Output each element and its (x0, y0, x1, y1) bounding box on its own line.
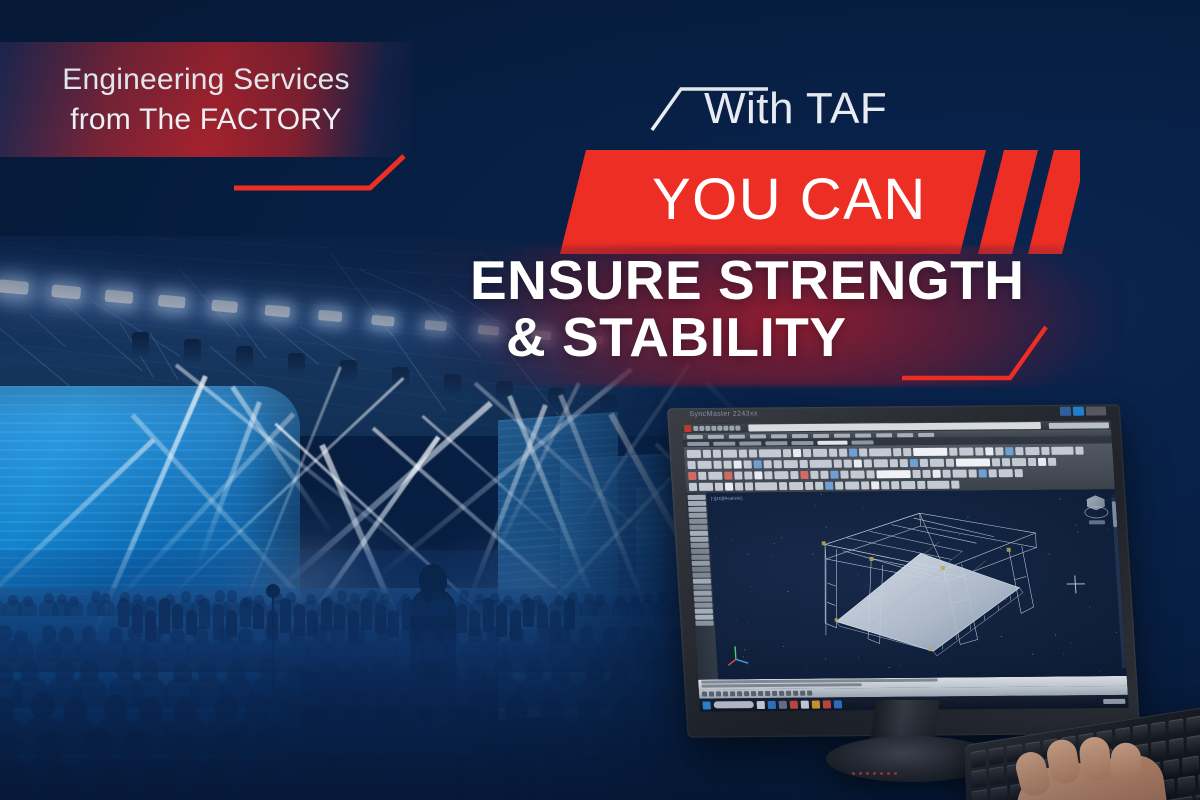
cad-ribbon-button[interactable] (985, 447, 994, 455)
audience-member (487, 626, 502, 642)
cad-ribbon-tab[interactable] (713, 441, 735, 445)
cad-status-toggle[interactable] (758, 691, 763, 696)
audience-member (57, 594, 67, 605)
canvas-speckle (1100, 671, 1101, 672)
cad-tool-button[interactable] (695, 621, 713, 626)
keyboard-key[interactable] (1133, 724, 1148, 743)
audience-member (459, 590, 469, 601)
cad-ribbon-button[interactable] (988, 469, 997, 477)
keyboard-key[interactable] (1187, 716, 1200, 735)
cad-tool-button[interactable] (688, 501, 706, 506)
cad-status-toggle[interactable] (723, 691, 728, 696)
stage-light-beam (0, 439, 155, 655)
cad-ribbon-button[interactable] (743, 460, 752, 468)
audience-member-body (684, 793, 744, 800)
audience-member-body (620, 639, 647, 662)
orchestra-performer (361, 598, 372, 630)
audience-member-body (306, 639, 333, 662)
cad-ribbon-toolbars[interactable] (683, 443, 1114, 493)
cad-ribbon-button[interactable] (793, 449, 802, 457)
audience-member-body (54, 716, 97, 754)
audience-member-body (333, 600, 352, 616)
cad-ribbon-button[interactable] (850, 470, 865, 478)
cad-tool-button[interactable] (694, 591, 712, 596)
cad-ribbon-button[interactable] (1041, 446, 1050, 454)
audience-member-body (249, 600, 268, 616)
cad-tool-button[interactable] (689, 513, 707, 518)
cad-ribbon-tab[interactable] (739, 441, 761, 445)
cad-ribbon-button[interactable] (783, 449, 792, 457)
cad-ribbon-button[interactable] (866, 470, 875, 478)
cad-tool-button[interactable] (692, 567, 710, 572)
cad-tool-button[interactable] (687, 495, 705, 500)
cad-tool-button[interactable] (694, 597, 712, 602)
taskbar-app-icon[interactable] (801, 700, 810, 708)
cad-tool-button[interactable] (694, 603, 712, 608)
cad-ribbon-tab[interactable] (791, 440, 813, 444)
cad-ribbon-button[interactable] (910, 459, 919, 467)
cad-ribbon-button[interactable] (992, 458, 1001, 466)
audience-member-body (223, 600, 242, 616)
cad-tool-button[interactable] (690, 537, 708, 542)
cad-menu-item[interactable] (918, 432, 934, 436)
cad-ribbon-button[interactable] (829, 448, 838, 456)
keyboard-key[interactable] (971, 750, 986, 769)
cad-ribbon-button[interactable] (799, 459, 808, 467)
monitor-screen[interactable]: [-][3D][Realistic] (682, 420, 1129, 711)
taskbar-app-icon[interactable] (834, 700, 843, 708)
cad-ribbon-button[interactable] (917, 480, 926, 488)
stage-truss-3d-model (732, 501, 1118, 665)
audience-member-body (269, 600, 288, 616)
audience-member (630, 595, 640, 606)
cad-ribbon-button[interactable] (951, 480, 960, 488)
audience-member (286, 592, 296, 603)
audience-member-body (580, 600, 599, 616)
cad-status-toggle[interactable] (716, 691, 721, 696)
orchestra-performer (159, 598, 170, 634)
cad-ribbon-button[interactable] (830, 470, 839, 478)
audience-member (626, 626, 641, 642)
cad-menu-item[interactable] (813, 433, 829, 437)
cad-tool-button[interactable] (688, 507, 706, 512)
cad-ribbon-button[interactable] (723, 449, 738, 457)
audience-member (415, 593, 425, 604)
cad-ribbon-button[interactable] (927, 480, 950, 488)
keyboard-key[interactable] (1163, 758, 1179, 777)
audience-member-body (529, 600, 548, 616)
cad-ribbon-button[interactable] (759, 449, 782, 457)
cad-ribbon-button[interactable] (1025, 446, 1040, 454)
cad-ribbon-button[interactable] (1051, 446, 1074, 454)
cad-ribbon-button[interactable] (699, 482, 714, 490)
cad-status-toggle[interactable] (709, 691, 714, 696)
taskbar-app-icon[interactable] (768, 700, 777, 708)
cad-tool-button[interactable] (690, 531, 708, 536)
cad-ribbon-button[interactable] (840, 470, 849, 478)
cad-ribbon-tab[interactable] (687, 441, 709, 445)
audience-member-body (577, 677, 612, 707)
cad-ribbon-button[interactable] (724, 471, 733, 479)
audience-member (133, 594, 143, 605)
autocad-app-icon[interactable] (684, 425, 691, 432)
cad-tool-button[interactable] (691, 549, 709, 554)
taskbar-app-icon[interactable] (812, 700, 821, 708)
keyboard-key[interactable] (1151, 741, 1166, 760)
cad-ribbon-button[interactable] (869, 448, 892, 456)
cad-ribbon-button[interactable] (809, 459, 832, 467)
cad-ribbon-button[interactable] (800, 470, 809, 478)
keyboard-key[interactable] (989, 747, 1004, 766)
cad-ribbon-button[interactable] (708, 471, 723, 479)
cad-ribbon-button[interactable] (713, 460, 722, 468)
cad-ribbon-button[interactable] (864, 459, 873, 467)
audience-member (337, 590, 347, 601)
cad-status-toggle[interactable] (772, 691, 777, 696)
cad-ribbon-button[interactable] (698, 471, 707, 479)
audience-member (533, 595, 543, 606)
audience-member (602, 732, 630, 763)
headline-line-1: ENSURE STRENGTH (470, 252, 1110, 309)
cad-tool-button[interactable] (691, 555, 709, 560)
cad-ribbon-button[interactable] (763, 460, 772, 468)
audience-member-body (94, 716, 137, 754)
canvas-speckle (737, 619, 738, 620)
audience-member-body (312, 677, 347, 707)
cad-ribbon-button[interactable] (890, 459, 899, 467)
hanging-light-fixture (288, 353, 305, 377)
cad-ribbon-button[interactable] (744, 471, 753, 479)
keyboard-key[interactable] (972, 789, 988, 800)
cad-ribbon-button[interactable] (900, 459, 909, 467)
cad-ribbon-button[interactable] (901, 481, 916, 489)
cad-ribbon-button[interactable] (920, 458, 929, 466)
cad-ribbon-button[interactable] (749, 449, 758, 457)
cad-ribbon-button[interactable] (764, 471, 773, 479)
audience-member (579, 625, 594, 641)
audience-member (0, 625, 12, 641)
audience-member-body (590, 755, 642, 800)
audience-member-body (219, 677, 254, 707)
quick-access-toolbar[interactable] (693, 426, 740, 431)
cad-ribbon-button[interactable] (942, 469, 951, 477)
cad-menu-item[interactable] (792, 434, 808, 438)
cad-status-toggle[interactable] (730, 691, 735, 696)
cad-ribbon-button[interactable] (835, 481, 844, 489)
audience-member-body (721, 755, 760, 800)
cad-ribbon-button[interactable] (803, 448, 812, 456)
cad-ribbon-button[interactable] (687, 460, 696, 468)
cad-ribbon-button[interactable] (733, 460, 742, 468)
audience-member-body (23, 755, 75, 800)
cad-ribbon-button[interactable] (1002, 458, 1011, 466)
audience-member-body (22, 716, 65, 754)
cad-ribbon-button[interactable] (745, 482, 754, 490)
cad-menu-item[interactable] (708, 434, 724, 438)
audience-member-body (187, 639, 214, 662)
stage-spotlight (0, 279, 29, 295)
monitor-osd-label: SyncMaster 2243xx (689, 410, 758, 418)
audience-member-body (239, 600, 258, 616)
cad-ribbon-button[interactable] (1028, 457, 1037, 465)
cad-ribbon-tab[interactable] (851, 440, 873, 444)
audience-member-body (251, 677, 286, 707)
taskbar-clock[interactable] (1103, 699, 1125, 704)
cad-ribbon-button[interactable] (861, 481, 870, 489)
audience-member-body (286, 755, 338, 800)
keyboard-key[interactable] (991, 786, 1007, 800)
viewcube-navigation-icon[interactable] (1082, 495, 1110, 525)
keyboard-key[interactable] (1169, 718, 1184, 737)
orchestra-performer (375, 604, 386, 634)
cad-ribbon-button[interactable] (922, 469, 931, 477)
audience-member (468, 626, 483, 642)
audience-member (320, 660, 339, 681)
cad-status-toggle[interactable] (751, 691, 756, 696)
audience-member (467, 664, 486, 685)
cad-tool-button[interactable] (692, 561, 710, 566)
cad-ribbon-button[interactable] (956, 458, 991, 466)
audience-member-body (635, 677, 670, 707)
cad-ribbon-button[interactable] (789, 481, 804, 489)
cad-ribbon-button[interactable] (946, 458, 955, 466)
cad-tool-button[interactable] (689, 525, 707, 530)
cad-menu-item[interactable] (855, 433, 871, 437)
cad-search-input[interactable] (1049, 422, 1109, 429)
cad-ribbon-button[interactable] (968, 469, 977, 477)
cad-ribbon-button[interactable] (755, 482, 778, 490)
cad-ribbon-button[interactable] (1075, 446, 1084, 454)
cad-ribbon-button[interactable] (739, 449, 748, 457)
audience-member-body (177, 600, 196, 616)
audience-member (467, 694, 491, 720)
taskbar-app-icon[interactable] (757, 701, 766, 709)
audience-member-body (348, 716, 391, 754)
cad-ribbon-button[interactable] (871, 481, 880, 489)
cad-ribbon-button[interactable] (1038, 457, 1047, 465)
cad-ribbon-button[interactable] (713, 449, 722, 457)
cad-ribbon-button[interactable] (810, 470, 819, 478)
audience-member (0, 697, 14, 723)
cad-ribbon-button[interactable] (1012, 458, 1027, 466)
cad-ribbon-button[interactable] (715, 482, 724, 490)
cad-ribbon-button[interactable] (1015, 447, 1024, 455)
audience-member (603, 626, 618, 642)
audience-member (568, 592, 578, 603)
cad-ribbon-button[interactable] (790, 471, 799, 479)
audience-member-body (53, 639, 80, 662)
cad-ribbon-button[interactable] (735, 482, 744, 490)
cad-ribbon-button[interactable] (844, 459, 853, 467)
audience-member (255, 728, 283, 759)
audience-member (215, 590, 225, 601)
cad-ribbon-button[interactable] (893, 448, 902, 456)
cad-ribbon-button[interactable] (930, 458, 945, 466)
cad-ribbon-button[interactable] (998, 469, 1013, 477)
cad-ribbon-button[interactable] (876, 470, 911, 478)
audience-member-body (434, 793, 494, 800)
cad-status-toggle[interactable] (800, 691, 805, 696)
cad-ribbon-button[interactable] (773, 460, 782, 468)
audience-member (227, 661, 246, 682)
cad-ribbon-button[interactable] (688, 471, 697, 479)
audience-member (505, 694, 529, 720)
cad-menu-item[interactable] (729, 434, 745, 438)
cad-ribbon-button[interactable] (845, 481, 860, 489)
audience-member-body (568, 716, 611, 754)
keyboard-key[interactable] (1187, 735, 1200, 754)
cad-status-toggle[interactable] (702, 692, 707, 697)
cad-ribbon-button[interactable] (874, 459, 889, 467)
audience-member-body (632, 793, 692, 800)
computer-monitor: SyncMaster 2243xx (667, 404, 1140, 737)
audience-member-body (530, 716, 573, 754)
cad-workspace: [-][3D][Realistic] (686, 489, 1126, 679)
taskbar-app-icon[interactable] (779, 700, 788, 708)
cad-ribbon-button[interactable] (753, 460, 762, 468)
audience-member-body (164, 639, 191, 662)
cad-ribbon-button[interactable] (949, 447, 958, 455)
taskbar-app-icon[interactable] (823, 700, 832, 708)
cad-ribbon-button[interactable] (854, 459, 863, 467)
cad-ribbon-button[interactable] (774, 471, 789, 479)
audience-member (642, 629, 657, 645)
cad-ribbon-button[interactable] (725, 482, 734, 490)
cad-ribbon-button[interactable] (703, 449, 712, 457)
cad-ribbon-button[interactable] (754, 471, 763, 479)
audience-member (650, 694, 674, 720)
cad-ribbon-button[interactable] (825, 481, 834, 489)
cad-tool-button[interactable] (689, 519, 707, 524)
cad-ribbon-button[interactable] (1005, 447, 1014, 455)
cad-ribbon-button[interactable] (1048, 457, 1057, 465)
cad-ribbon-button[interactable] (815, 481, 824, 489)
cad-ribbon-button[interactable] (697, 460, 712, 468)
cad-status-toggle[interactable] (793, 691, 798, 696)
audience-member-body (302, 600, 321, 616)
stage-light-beam (319, 444, 417, 661)
audience-member (55, 660, 74, 681)
audience-member (265, 624, 280, 640)
cad-tool-button[interactable] (693, 585, 711, 590)
taskbar-app-icon[interactable] (790, 700, 799, 708)
cad-menu-item[interactable] (897, 433, 913, 437)
start-button-icon[interactable] (702, 701, 711, 709)
cad-ribbon-button[interactable] (723, 460, 732, 468)
cad-ribbon-button[interactable] (1014, 469, 1023, 477)
cad-ribbon-button[interactable] (995, 447, 1004, 455)
cad-tool-button[interactable] (690, 543, 708, 548)
cad-ribbon-tab[interactable] (817, 440, 847, 444)
cad-ribbon-button[interactable] (687, 449, 702, 457)
cad-ribbon-button[interactable] (891, 481, 900, 489)
cad-ribbon-button[interactable] (978, 469, 987, 477)
cad-ribbon-button[interactable] (859, 448, 868, 456)
audience-member-body (212, 639, 239, 662)
audience-member (323, 596, 333, 607)
cad-status-toggle[interactable] (737, 691, 742, 696)
stage-spotlight (265, 305, 291, 318)
cad-ribbon-button[interactable] (834, 459, 843, 467)
cad-ribbon-tab[interactable] (765, 441, 787, 445)
audience-member-body (97, 600, 116, 616)
keyboard-key[interactable] (1151, 721, 1166, 740)
cad-status-toggle[interactable] (765, 691, 770, 696)
audience-member-body (587, 793, 647, 800)
cad-ribbon-button[interactable] (913, 447, 948, 455)
audience-member-body (132, 677, 167, 707)
cad-ribbon-button[interactable] (849, 448, 858, 456)
keyboard-key[interactable] (1177, 776, 1195, 795)
audience-member-body (283, 793, 343, 800)
audience-member-body (341, 677, 376, 707)
cad-menu-item[interactable] (771, 434, 787, 438)
cad-status-toggle[interactable] (786, 691, 791, 696)
cad-ribbon-button[interactable] (975, 447, 984, 455)
cad-ribbon-button[interactable] (783, 460, 798, 468)
cad-menu-item[interactable] (876, 433, 892, 437)
stage-light-beam (65, 375, 208, 697)
audience-member (0, 763, 30, 799)
orchestra-performer (537, 604, 548, 628)
audience-member (646, 762, 679, 798)
audience-member-body (549, 600, 568, 616)
cad-ribbon-button[interactable] (959, 447, 974, 455)
keyboard-key[interactable] (989, 766, 1004, 785)
taskbar-search-input[interactable] (713, 701, 753, 708)
cad-drawing-canvas[interactable]: [-][3D][Realistic] (706, 489, 1126, 679)
cad-ribbon-button[interactable] (779, 482, 788, 490)
audience-member (43, 764, 76, 800)
orchestra-performer (348, 610, 359, 645)
audience-member-body (116, 600, 135, 616)
cad-ribbon-button[interactable] (881, 481, 890, 489)
cad-ribbon-button[interactable] (734, 471, 743, 479)
cad-menu-item[interactable] (750, 434, 766, 438)
cad-tool-button[interactable] (695, 615, 713, 620)
audience-member (195, 594, 205, 605)
typing-hand (1011, 752, 1170, 800)
cad-ribbon-button[interactable] (952, 469, 967, 477)
cad-ribbon-button[interactable] (689, 482, 698, 490)
cad-ribbon-button[interactable] (805, 481, 814, 489)
cad-tool-button[interactable] (692, 573, 710, 578)
audience-member-body (346, 600, 365, 616)
cad-ribbon-button[interactable] (839, 448, 848, 456)
cad-status-toggle[interactable] (779, 691, 784, 696)
cad-ribbon-button[interactable] (932, 469, 941, 477)
audience-member (324, 696, 348, 722)
cad-status-toggle[interactable] (807, 691, 812, 696)
cad-ribbon-button[interactable] (820, 470, 829, 478)
audience-member (551, 662, 570, 683)
keyboard-key[interactable] (1169, 738, 1184, 757)
cad-menu-item[interactable] (687, 434, 703, 438)
audience-member-body (503, 639, 530, 662)
cad-menu-item[interactable] (834, 433, 850, 437)
cad-tool-button[interactable] (695, 609, 713, 614)
keyboard-key[interactable] (971, 769, 986, 788)
audience-member (23, 596, 33, 607)
keyboard-key[interactable] (1182, 755, 1198, 774)
cad-ribbon-button[interactable] (903, 448, 912, 456)
cad-ribbon-button[interactable] (912, 469, 921, 477)
cad-tool-button[interactable] (693, 579, 711, 584)
cad-ribbon-button[interactable] (813, 448, 828, 456)
audience-member (357, 693, 381, 719)
cad-status-toggle[interactable] (744, 691, 749, 696)
audience-member (174, 698, 198, 724)
